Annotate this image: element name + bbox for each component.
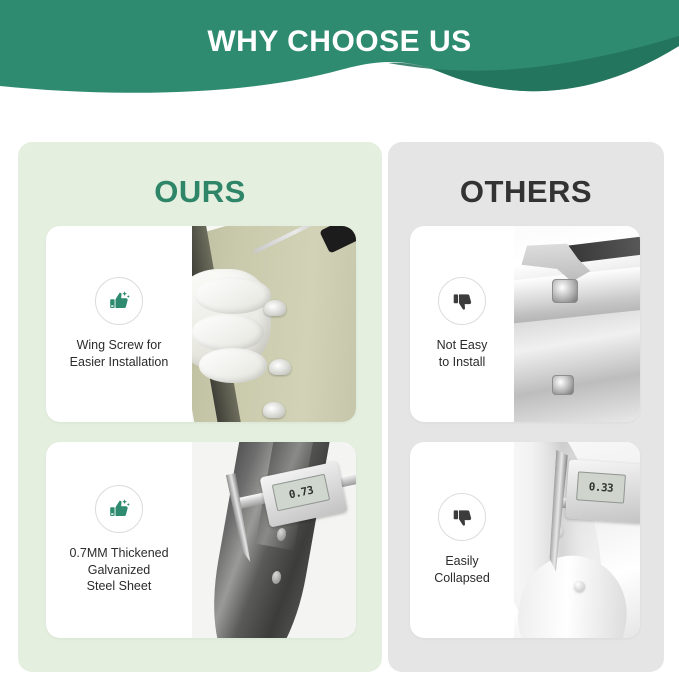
ours-feature-card-2: 0.7MM Thickened Galvanized Steel Sheet 0… bbox=[46, 442, 356, 638]
digital-caliper-measuring-galvanized-steel-photo: 0.73 bbox=[192, 442, 356, 638]
card-text-area: Wing Screw for Easier Installation bbox=[46, 226, 192, 422]
page-title: WHY CHOOSE US bbox=[0, 25, 679, 59]
card-text-area: 0.7MM Thickened Galvanized Steel Sheet bbox=[46, 442, 192, 638]
why-choose-us-comparison-graphic: WHY CHOOSE US OURS OTHERS Wing Screw for… bbox=[0, 0, 679, 679]
thumbs-up-icon bbox=[95, 485, 143, 533]
thumbs-down-icon bbox=[438, 493, 486, 541]
card-caption: Not Easy to Install bbox=[437, 337, 488, 371]
header-banner: WHY CHOOSE US bbox=[0, 0, 679, 105]
card-caption: Wing Screw for Easier Installation bbox=[70, 337, 169, 371]
gloved-hand-installing-wing-screw-photo bbox=[192, 226, 356, 422]
ours-feature-card-1: Wing Screw for Easier Installation bbox=[46, 226, 356, 422]
thumbs-up-icon bbox=[95, 277, 143, 325]
others-column-title: OTHERS bbox=[388, 172, 664, 212]
card-caption: Easily Collapsed bbox=[434, 553, 490, 587]
caliper-reading: 0.33 bbox=[588, 481, 613, 496]
ours-column-title: OURS bbox=[18, 172, 382, 212]
others-feature-card-1: Not Easy to Install bbox=[410, 226, 640, 422]
thumbs-down-icon bbox=[438, 277, 486, 325]
card-caption: 0.7MM Thickened Galvanized Steel Sheet bbox=[69, 545, 168, 596]
wrench-tightening-bolt-on-steel-photo bbox=[514, 226, 640, 422]
digital-caliper-measuring-thin-duct-photo: 0.33 bbox=[514, 442, 640, 638]
card-text-area: Not Easy to Install bbox=[410, 226, 514, 422]
card-text-area: Easily Collapsed bbox=[410, 442, 514, 638]
others-feature-card-2: Easily Collapsed 0.33 bbox=[410, 442, 640, 638]
caliper-reading: 0.73 bbox=[288, 484, 315, 502]
